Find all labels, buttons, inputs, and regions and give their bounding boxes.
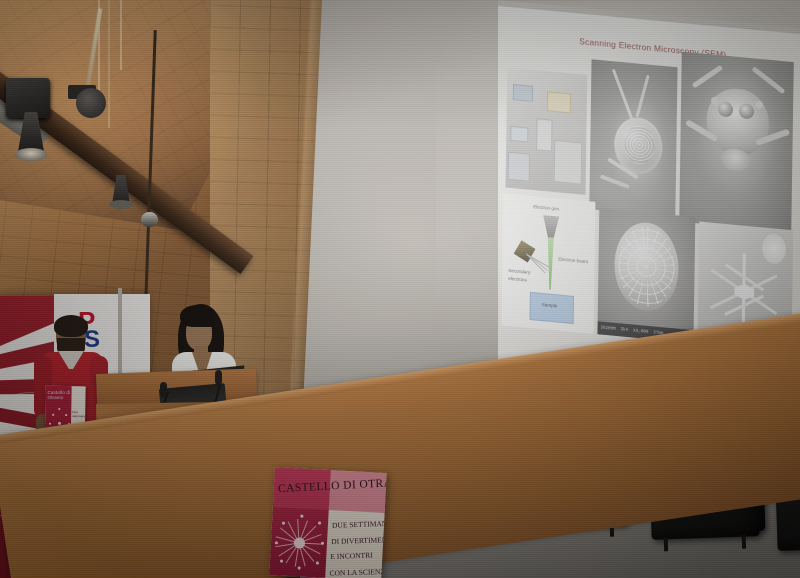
- tile-sem-principle-diagram: Electron gun Electron beam Secondary ele…: [501, 193, 595, 334]
- poster-line-1: DUE SETTIMANE: [332, 519, 387, 530]
- diagram-label-secondary-2: electrons: [508, 276, 527, 283]
- tile-sem-instrument-photo: [506, 67, 588, 194]
- round-spotlight-icon: [76, 88, 106, 118]
- scalebar-mag: X4,000: [633, 329, 648, 334]
- suspension-wire: [120, 0, 122, 70]
- diagram-label-electron-gun: Electron gun: [533, 204, 559, 211]
- glasses-icon: [57, 331, 85, 337]
- vertical-poster-title: Castello di Otranto: [48, 390, 84, 400]
- conference-hall-photo: Scanning Electron Microscopy (SEM): [0, 0, 800, 578]
- poster-line-3: E INCONTRI: [330, 551, 373, 561]
- microphone-head: [215, 370, 222, 385]
- castello-di-otranto-poster: CASTELLO DI OTRANTO: [269, 467, 386, 578]
- firework-graphic: [273, 513, 326, 574]
- poster-line-4: CON LA SCIENZA: [329, 567, 386, 578]
- vertical-poster-line-1: Due settimane: [72, 410, 85, 419]
- dome-camera-icon: [141, 212, 158, 227]
- tile-jumping-spider-sem: [679, 52, 794, 232]
- poster-line-2: DI DIVERTIMENTO: [331, 535, 387, 546]
- tile-fly-head-sem: [589, 59, 677, 217]
- spotlight-lens: [15, 148, 47, 161]
- tile-pollen-grain-sem: 2620HM 5kV X4,000 37mm: [597, 208, 695, 343]
- diagram-label-secondary-1: Secondary: [508, 268, 530, 275]
- suspension-wire: [108, 0, 110, 128]
- diagram-label-electron-beam: Electron beam: [558, 257, 588, 265]
- microphone-head: [160, 382, 167, 397]
- scalebar-left: 2620HM: [601, 326, 616, 331]
- pendant-lamp-rim: [109, 200, 133, 209]
- scalebar-kv: 5kV: [621, 328, 629, 333]
